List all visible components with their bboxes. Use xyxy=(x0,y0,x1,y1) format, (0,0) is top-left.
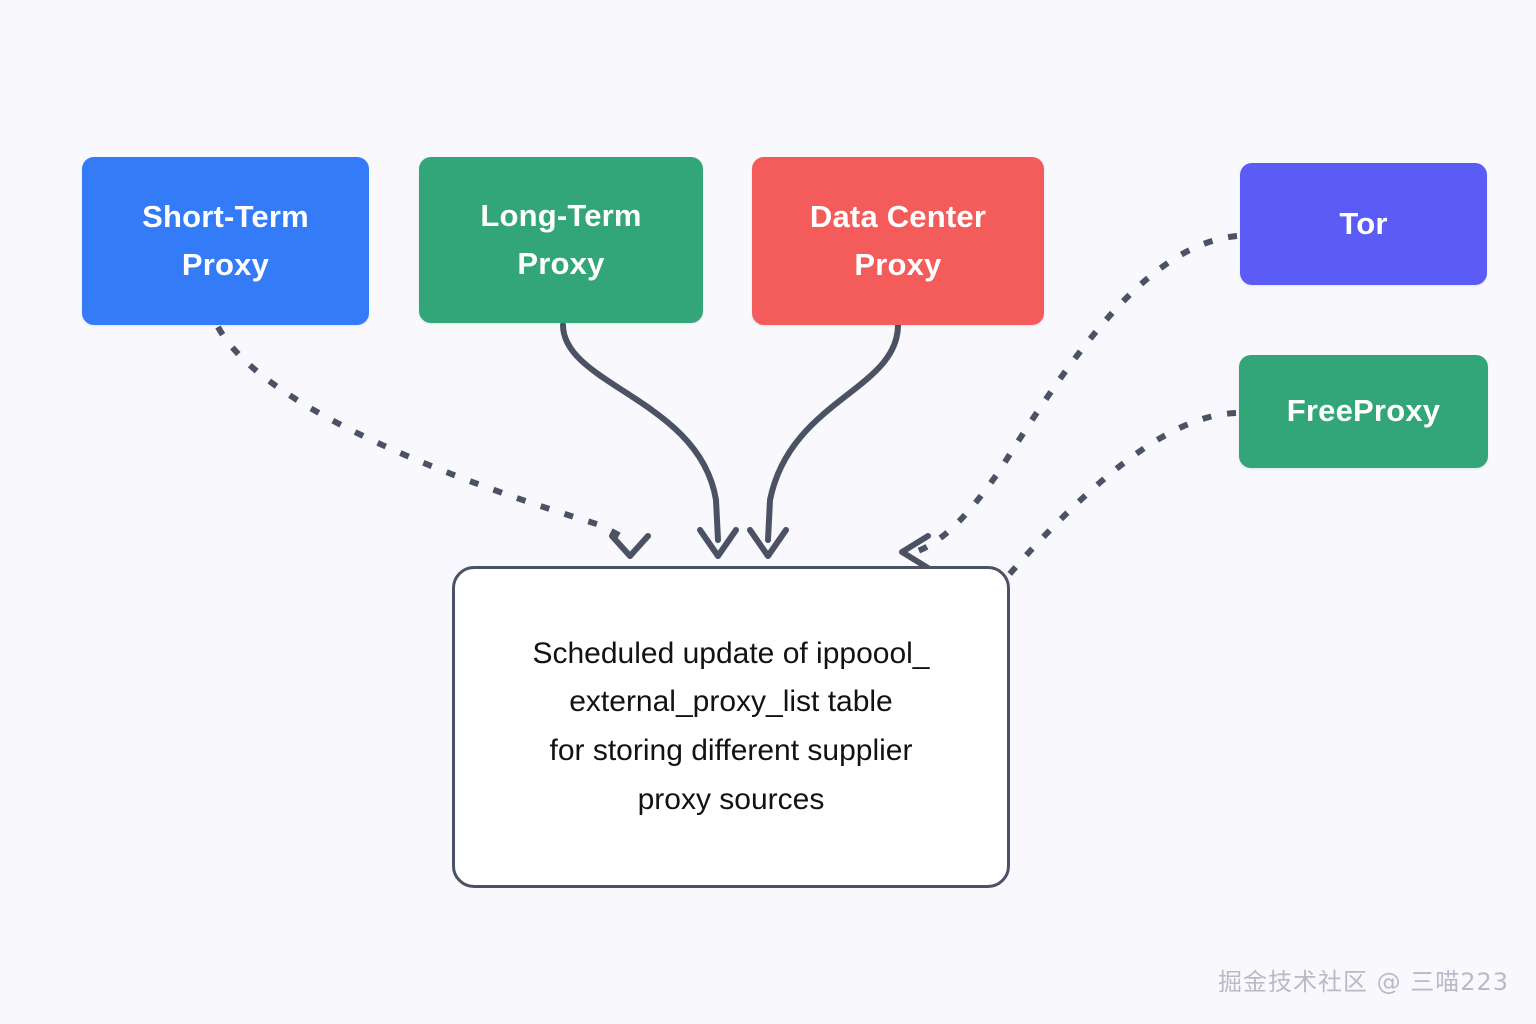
arrowhead-long-term xyxy=(700,530,736,556)
node-short-term-proxy[interactable]: Short-Term Proxy xyxy=(82,157,369,325)
node-tor[interactable]: Tor xyxy=(1240,163,1487,285)
edge-free-proxy-to-center xyxy=(1008,413,1236,576)
node-short-term-proxy-label: Short-Term Proxy xyxy=(142,193,309,289)
arrowhead-short-term xyxy=(612,536,648,556)
node-scheduled-update[interactable]: Scheduled update of ippoool_ external_pr… xyxy=(452,566,1010,888)
node-long-term-proxy-label: Long-Term Proxy xyxy=(480,192,641,288)
node-free-proxy-label: FreeProxy xyxy=(1287,387,1440,435)
arrowhead-data-center xyxy=(750,530,786,556)
diagram-canvas: Short-Term Proxy Long-Term Proxy Data Ce… xyxy=(0,0,1536,1024)
edge-short-term-to-center xyxy=(218,327,628,540)
node-data-center-proxy[interactable]: Data Center Proxy xyxy=(752,157,1044,325)
node-free-proxy[interactable]: FreeProxy xyxy=(1239,355,1488,468)
edge-long-term-to-center xyxy=(563,325,718,540)
edge-data-center-to-center xyxy=(768,325,898,540)
node-tor-label: Tor xyxy=(1339,200,1387,248)
node-long-term-proxy[interactable]: Long-Term Proxy xyxy=(419,157,703,323)
node-data-center-proxy-label: Data Center Proxy xyxy=(810,193,986,289)
node-scheduled-update-label: Scheduled update of ippoool_ external_pr… xyxy=(518,630,943,824)
watermark: 掘金技术社区 @ 三喵223 xyxy=(1218,962,1509,997)
arrowhead-tor xyxy=(902,536,928,568)
